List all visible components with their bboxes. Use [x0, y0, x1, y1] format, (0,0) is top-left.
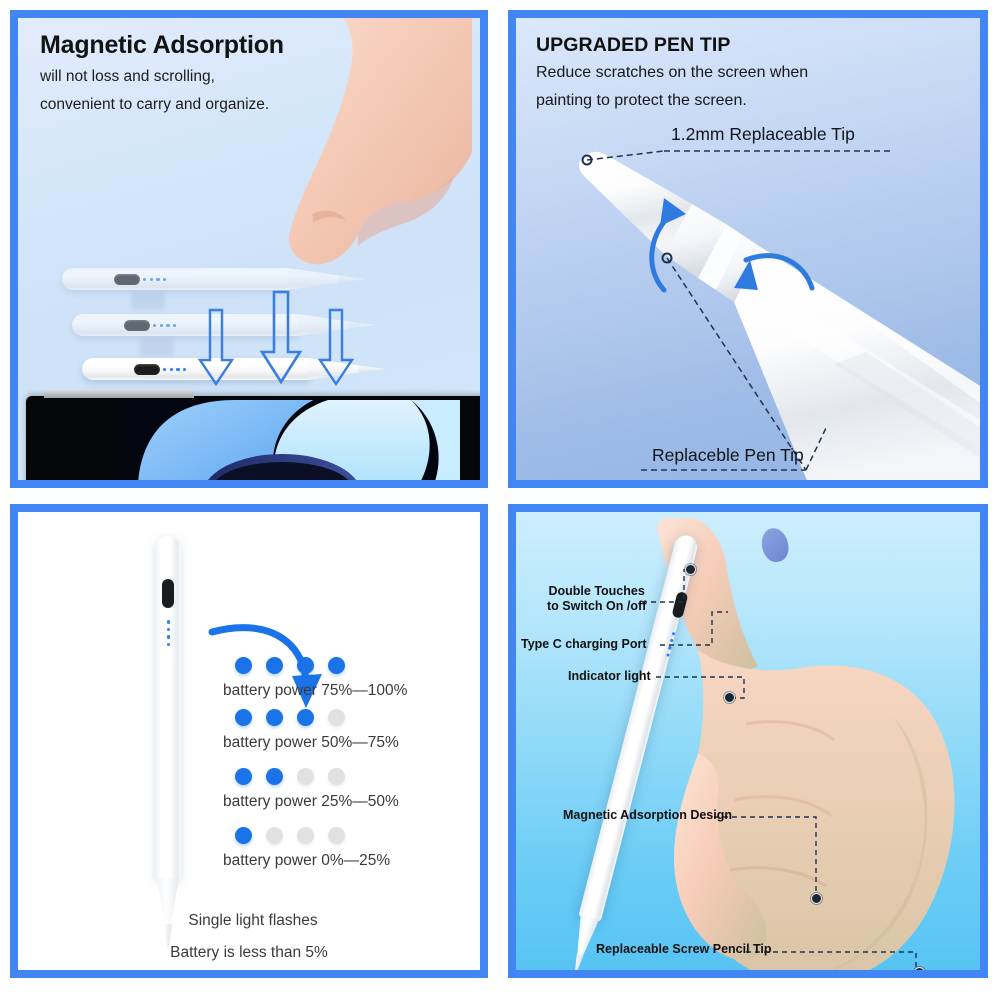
battery-row-label: battery power 0%—25%: [223, 851, 407, 872]
callout-replaceable-tip: 1.2mm Replaceable Tip: [671, 124, 855, 145]
footer-line-2: Battery is less than 5%: [18, 944, 480, 962]
panel-header: Magnetic Adsorption will not loss and sc…: [40, 30, 284, 117]
battery-dots: [223, 768, 407, 785]
callout-replaceble-pen-tip: Replaceble Pen Tip: [652, 445, 804, 466]
battery-row: battery power 25%—50%: [223, 768, 407, 813]
indicator-dot: [235, 768, 252, 785]
indicator-dot: [235, 657, 252, 674]
indicator-dot: [235, 709, 252, 726]
battery-dots: [223, 827, 407, 844]
tablet-device: [26, 396, 488, 488]
indicator-dot: [328, 709, 345, 726]
indicator-lights-icon: [167, 620, 170, 646]
panel-title: UPGRADED PEN TIP: [536, 34, 808, 57]
callout-marker-top: [685, 564, 696, 575]
indicator-dot: [266, 768, 283, 785]
indicator-dot: [266, 827, 283, 844]
usb-c-port-icon: [162, 579, 174, 608]
indicator-dot: [235, 827, 252, 844]
indicator-lights-icon: [153, 324, 176, 327]
battery-row: battery power 0%—25%: [223, 827, 407, 872]
tablet-wallpaper-icon: [118, 400, 460, 488]
panel-feature-callouts: Double Touches to Switch On /off Type C …: [508, 504, 988, 978]
indicator-lights-icon: [143, 278, 166, 281]
indicator-dot: [266, 657, 283, 674]
indicator-dot: [328, 768, 345, 785]
battery-legend: battery power 75%—100%battery power 50%—…: [223, 657, 407, 879]
battery-row-label: battery power 75%—100%: [223, 681, 407, 702]
tablet-top-edge: [44, 389, 194, 398]
subtitle-line-2: convenient to carry and organize.: [40, 92, 284, 117]
callout-double-touch-line-2: to Switch On /off: [547, 599, 646, 614]
indicator-lights-icon: [163, 368, 186, 371]
subtitle-line-1: will not loss and scrolling,: [40, 64, 284, 89]
indicator-dot: [328, 827, 345, 844]
callout-double-touch-line-1: Double Touches: [547, 584, 646, 599]
indicator-dot: [266, 709, 283, 726]
down-arrow-icon: [196, 308, 236, 388]
usb-c-port-icon: [124, 320, 150, 331]
callout-indicator-light: Indicator light: [568, 669, 651, 684]
battery-footer: Single light flashes Battery is less tha…: [18, 912, 480, 976]
indicator-dot: [297, 827, 314, 844]
infographic-board: Magnetic Adsorption will not loss and sc…: [0, 0, 1000, 1000]
callout-marker-magnetic: [811, 893, 822, 904]
page-title: Magnetic Adsorption: [40, 30, 284, 61]
battery-row-label: battery power 25%—50%: [223, 792, 407, 813]
down-arrow-icon: [258, 290, 304, 386]
panel-magnetic-adsorption: Magnetic Adsorption will not loss and sc…: [10, 10, 488, 488]
stylus-pen-vertical: [155, 536, 181, 946]
hand-pointing-icon: [262, 10, 472, 292]
usb-c-port-icon: [134, 364, 160, 375]
stylus-pen-top: [62, 268, 362, 290]
battery-dots: [223, 709, 407, 726]
callout-marker-screw-tip: [914, 967, 925, 978]
callout-marker-indicator: [724, 692, 735, 703]
callout-magnetic-design: Magnetic Adsorption Design: [563, 808, 732, 823]
battery-row-label: battery power 50%—75%: [223, 733, 407, 754]
callout-type-c-port: Type C charging Port: [521, 637, 646, 652]
panel-header: UPGRADED PEN TIP Reduce scratches on the…: [536, 34, 808, 112]
battery-row: battery power 50%—75%: [223, 709, 407, 754]
down-arrow-icon: [316, 308, 356, 388]
subtitle-line-2: painting to protect the screen.: [536, 89, 808, 113]
usb-c-port-icon: [114, 274, 140, 285]
panel-battery-indicator: battery power 75%—100%battery power 50%—…: [10, 504, 488, 978]
battery-dots: [223, 657, 407, 674]
subtitle-line-1: Reduce scratches on the screen when: [536, 61, 808, 85]
footer-line-1: Single light flashes: [18, 912, 480, 930]
indicator-dot: [297, 709, 314, 726]
tablet-screen: [118, 400, 460, 488]
indicator-dot: [297, 657, 314, 674]
callout-double-touch: Double Touches to Switch On /off: [547, 584, 646, 615]
battery-row: battery power 75%—100%: [223, 657, 407, 702]
panel-upgraded-pen-tip: 1.2mm Replaceable Tip Replaceble Pen Tip…: [508, 10, 988, 488]
callout-leader-lines-icon: [516, 512, 988, 978]
indicator-dot: [297, 768, 314, 785]
indicator-dot: [328, 657, 345, 674]
callout-screw-pencil-tip: Replaceable Screw Pencil Tip: [596, 942, 772, 957]
